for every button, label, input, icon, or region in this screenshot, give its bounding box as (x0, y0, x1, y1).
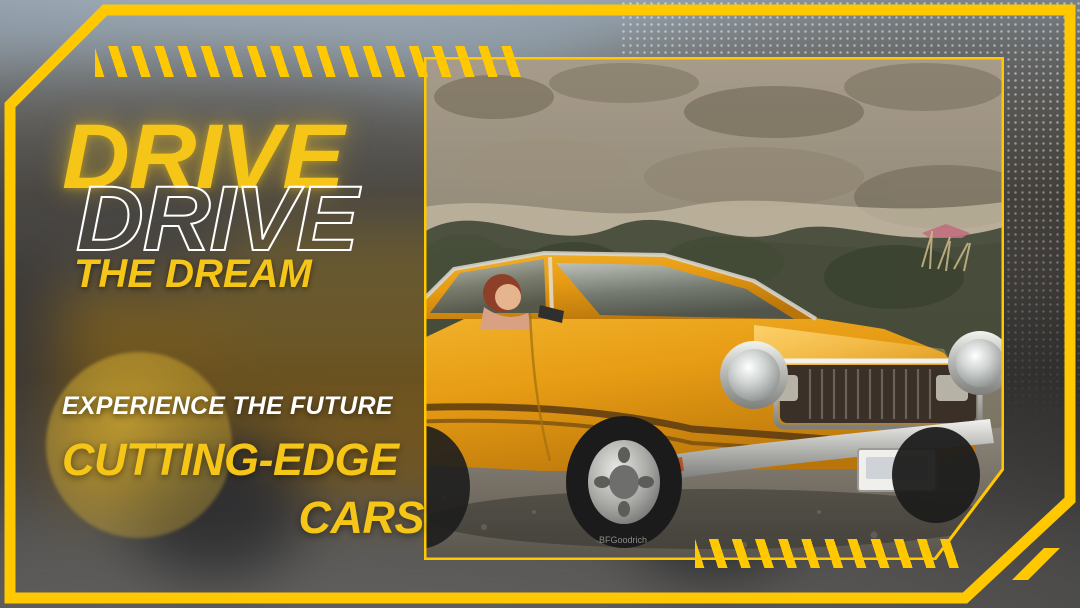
feature-line-2: CARS (62, 492, 442, 544)
hero-photo-clip: BFGoodrich (424, 57, 1004, 560)
lower-copy-block: EXPERIENCE THE FUTURE CUTTING-EDGE CARS (62, 392, 442, 544)
feature-line-1: CUTTING-EDGE (62, 434, 442, 486)
stripe-band-bottom (695, 539, 963, 568)
eyebrow-text: EXPERIENCE THE FUTURE (62, 392, 442, 421)
page-subtitle: THE DREAM (74, 252, 312, 297)
poster-canvas: BFGoodrich DRIVE DRIVE THE DREAM EXPERIE… (0, 0, 1080, 608)
svg-text:BFGoodrich: BFGoodrich (599, 535, 647, 545)
headline-block: DRIVE DRIVE THE DREAM (62, 112, 462, 262)
page-title-outline: DRIVE (76, 174, 358, 264)
hero-photo: BFGoodrich (424, 57, 1004, 560)
drive-title-stack: DRIVE DRIVE THE DREAM (62, 112, 462, 262)
stripe-band-top (95, 46, 523, 77)
hero-photo-card: BFGoodrich (424, 57, 1004, 560)
